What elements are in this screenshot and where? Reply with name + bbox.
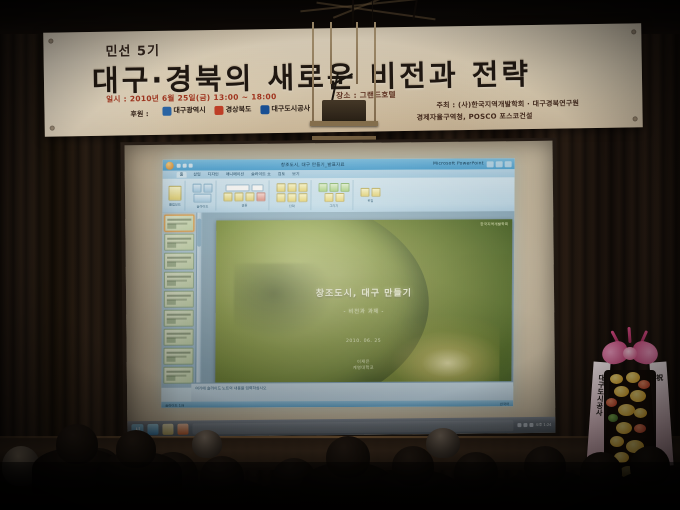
conference-hall-photo: 민선 5기 대구·경북의 새로운 비전과 전략 일시 : 2010년 6월 25…	[0, 0, 680, 510]
rig-rope	[374, 22, 376, 126]
close-icon[interactable]	[505, 161, 512, 167]
projection-screen: 창조도시, 대구 만들기_발표자료 Microsoft PowerPoint 홈…	[124, 141, 555, 437]
ribbon-group-clipboard[interactable]: 클립보드	[165, 181, 185, 211]
ribbon-group-label: 단락	[289, 203, 295, 208]
rig-rope	[356, 22, 358, 84]
slide-counter: 슬라이드 1/9	[165, 402, 184, 407]
ribbon-group-label: 편집	[367, 197, 373, 202]
gyeongbuk-province-logo-icon	[215, 105, 224, 114]
status-bar: 슬라이드 1/9 한국어	[161, 400, 513, 408]
banner-eyelet	[633, 116, 638, 121]
indent-icon[interactable]	[298, 183, 307, 192]
ribbon-group-label: 그리기	[329, 203, 338, 208]
numbering-icon[interactable]	[287, 183, 296, 192]
slide-thumbnail[interactable]	[164, 310, 194, 327]
slide-thumbnail[interactable]	[163, 348, 193, 365]
ribbon-group-drawing[interactable]: 그리기	[315, 180, 353, 210]
tab-review[interactable]: 검토	[278, 171, 285, 177]
system-tray[interactable]: 오후 1:24	[518, 422, 552, 427]
language-indicator: 한국어	[500, 401, 509, 406]
rig-rope	[330, 22, 332, 84]
tab-animations[interactable]: 애니메이션	[226, 171, 244, 177]
tab-home[interactable]: 홈	[177, 172, 187, 178]
italic-icon[interactable]	[234, 192, 243, 201]
explorer-icon[interactable]	[162, 423, 173, 434]
notes-placeholder: 여기에 슬라이드 노트의 내용을 입력하십시오	[195, 384, 509, 391]
save-icon[interactable]	[177, 163, 181, 167]
rig-platform	[310, 121, 378, 126]
ribbon-group-label: 글꼴	[241, 202, 247, 207]
powerpoint-window[interactable]: 창조도시, 대구 만들기_발표자료 Microsoft PowerPoint 홈…	[161, 158, 515, 408]
window-title: 창조도시, 대구 만들기_발표자료	[196, 161, 430, 168]
underline-icon[interactable]	[245, 192, 254, 201]
audience-member	[192, 430, 222, 458]
quick-access-toolbar[interactable]	[177, 163, 193, 167]
powerpoint-workspace: 한국지역개발학회 창조도시, 대구 만들기 - 비전과 과제 - 2010. 0…	[161, 211, 514, 388]
redo-icon[interactable]	[189, 163, 193, 167]
foreground-shadow	[0, 462, 680, 510]
bow-center-knot	[623, 347, 637, 360]
slide-title: 창조도시, 대구 만들기	[216, 285, 512, 299]
slide-editing-area[interactable]: 한국지역개발학회 창조도시, 대구 만들기 - 비전과 과제 - 2010. 0…	[201, 211, 514, 387]
banner-host-secondary: 경제자율구역청, POSCO 포스코건설	[417, 111, 533, 123]
taskbar-task-area[interactable]	[192, 420, 513, 434]
slide-corp-mark: 한국지역개발학회	[480, 222, 508, 227]
layout-icon[interactable]	[203, 183, 212, 192]
slide-thumbnail[interactable]	[164, 234, 194, 251]
ribbon-group-label: 슬라이드	[197, 203, 209, 208]
slide-subtitle: - 비전과 과제 -	[216, 307, 512, 316]
volume-icon[interactable]	[524, 423, 528, 427]
find-icon[interactable]	[360, 187, 369, 196]
banner-eyelet	[48, 39, 53, 44]
font-family-select[interactable]	[226, 184, 250, 191]
ribbon-group-label: 클립보드	[169, 201, 181, 206]
slide-presenter: 이재은 계명대학교	[215, 358, 511, 372]
new-slide-icon[interactable]	[192, 183, 201, 192]
ribbon-group-font[interactable]: 글꼴	[220, 180, 269, 210]
slide-thumbnail-panel[interactable]	[161, 213, 197, 388]
align-center-icon[interactable]	[287, 193, 296, 202]
internet-explorer-icon[interactable]	[147, 423, 158, 434]
rig-rope	[312, 22, 314, 126]
bold-icon[interactable]	[223, 192, 232, 201]
banner-sponsor-label: 후원 :	[130, 109, 148, 119]
window-controls[interactable]	[487, 161, 512, 167]
slide-thumbnail[interactable]	[164, 329, 194, 346]
slide-thumbnail[interactable]	[164, 215, 194, 232]
sponsor-chip: 경상북도	[215, 104, 252, 115]
scrollbar-thumb[interactable]	[197, 219, 201, 247]
quick-styles-icon[interactable]	[340, 182, 349, 191]
slide-thumbnail[interactable]	[164, 272, 194, 289]
replace-icon[interactable]	[371, 187, 380, 196]
shapes-icon[interactable]	[318, 183, 327, 192]
ribbon-group-editing[interactable]: 편집	[357, 180, 383, 210]
sponsor-name: 경상북도	[226, 104, 252, 114]
sponsor-chip: 대구도시공사	[260, 104, 310, 115]
maximize-icon[interactable]	[496, 161, 503, 167]
shape-outline-icon[interactable]	[335, 192, 344, 201]
arrange-icon[interactable]	[329, 183, 338, 192]
shape-fill-icon[interactable]	[324, 193, 333, 202]
light-burst-graphic	[363, 315, 500, 382]
align-left-icon[interactable]	[276, 193, 285, 202]
presenter-name: 이재은	[357, 358, 370, 363]
daegu-city-logo-icon	[162, 106, 171, 115]
office-button-icon[interactable]	[166, 161, 174, 169]
bullets-icon[interactable]	[276, 183, 285, 192]
network-icon[interactable]	[518, 423, 522, 427]
sponsor-name: 대구도시공사	[271, 104, 310, 115]
undo-icon[interactable]	[183, 163, 187, 167]
media-icon[interactable]	[177, 423, 188, 434]
app-name: Microsoft PowerPoint	[433, 161, 484, 166]
current-slide[interactable]: 한국지역개발학회 창조도시, 대구 만들기 - 비전과 과제 - 2010. 0…	[215, 219, 512, 385]
slide-thumbnail[interactable]	[164, 253, 194, 270]
banner-eyelet	[50, 126, 55, 131]
slide-thumbnail[interactable]	[163, 367, 193, 384]
rig-arm	[331, 72, 339, 102]
wreath-bow	[602, 336, 658, 370]
reset-icon[interactable]	[193, 193, 211, 202]
hanging-equipment-rig	[310, 22, 378, 140]
clock[interactable]: 오후 1:24	[536, 422, 552, 427]
font-size-select[interactable]	[252, 184, 264, 191]
audience-member	[56, 424, 98, 464]
slide-thumbnail[interactable]	[164, 291, 194, 308]
ribbon-group-slides[interactable]: 슬라이드	[189, 181, 216, 211]
presenter-affiliation: 계명대학교	[353, 365, 374, 370]
align-right-icon[interactable]	[298, 193, 307, 202]
ime-icon[interactable]	[530, 423, 534, 427]
tab-insert[interactable]: 삽입	[193, 172, 200, 178]
ribbon-group-paragraph[interactable]: 단락	[273, 180, 311, 210]
audience-member	[426, 428, 460, 458]
globe-landmass	[233, 263, 334, 339]
sponsor-name: 대구광역시	[173, 105, 205, 116]
tab-design[interactable]: 디자인	[208, 172, 219, 178]
tab-view[interactable]: 보기	[292, 171, 299, 177]
sponsor-chip: 대구광역시	[162, 105, 205, 116]
paste-icon[interactable]	[168, 185, 181, 200]
banner-eyelet	[631, 29, 636, 34]
rig-equipment-box	[322, 100, 366, 122]
font-color-icon[interactable]	[256, 192, 265, 201]
minimize-icon[interactable]	[487, 161, 494, 167]
daegu-corp-logo-icon	[260, 105, 269, 114]
tab-slideshow[interactable]: 슬라이드 쇼	[251, 171, 271, 177]
